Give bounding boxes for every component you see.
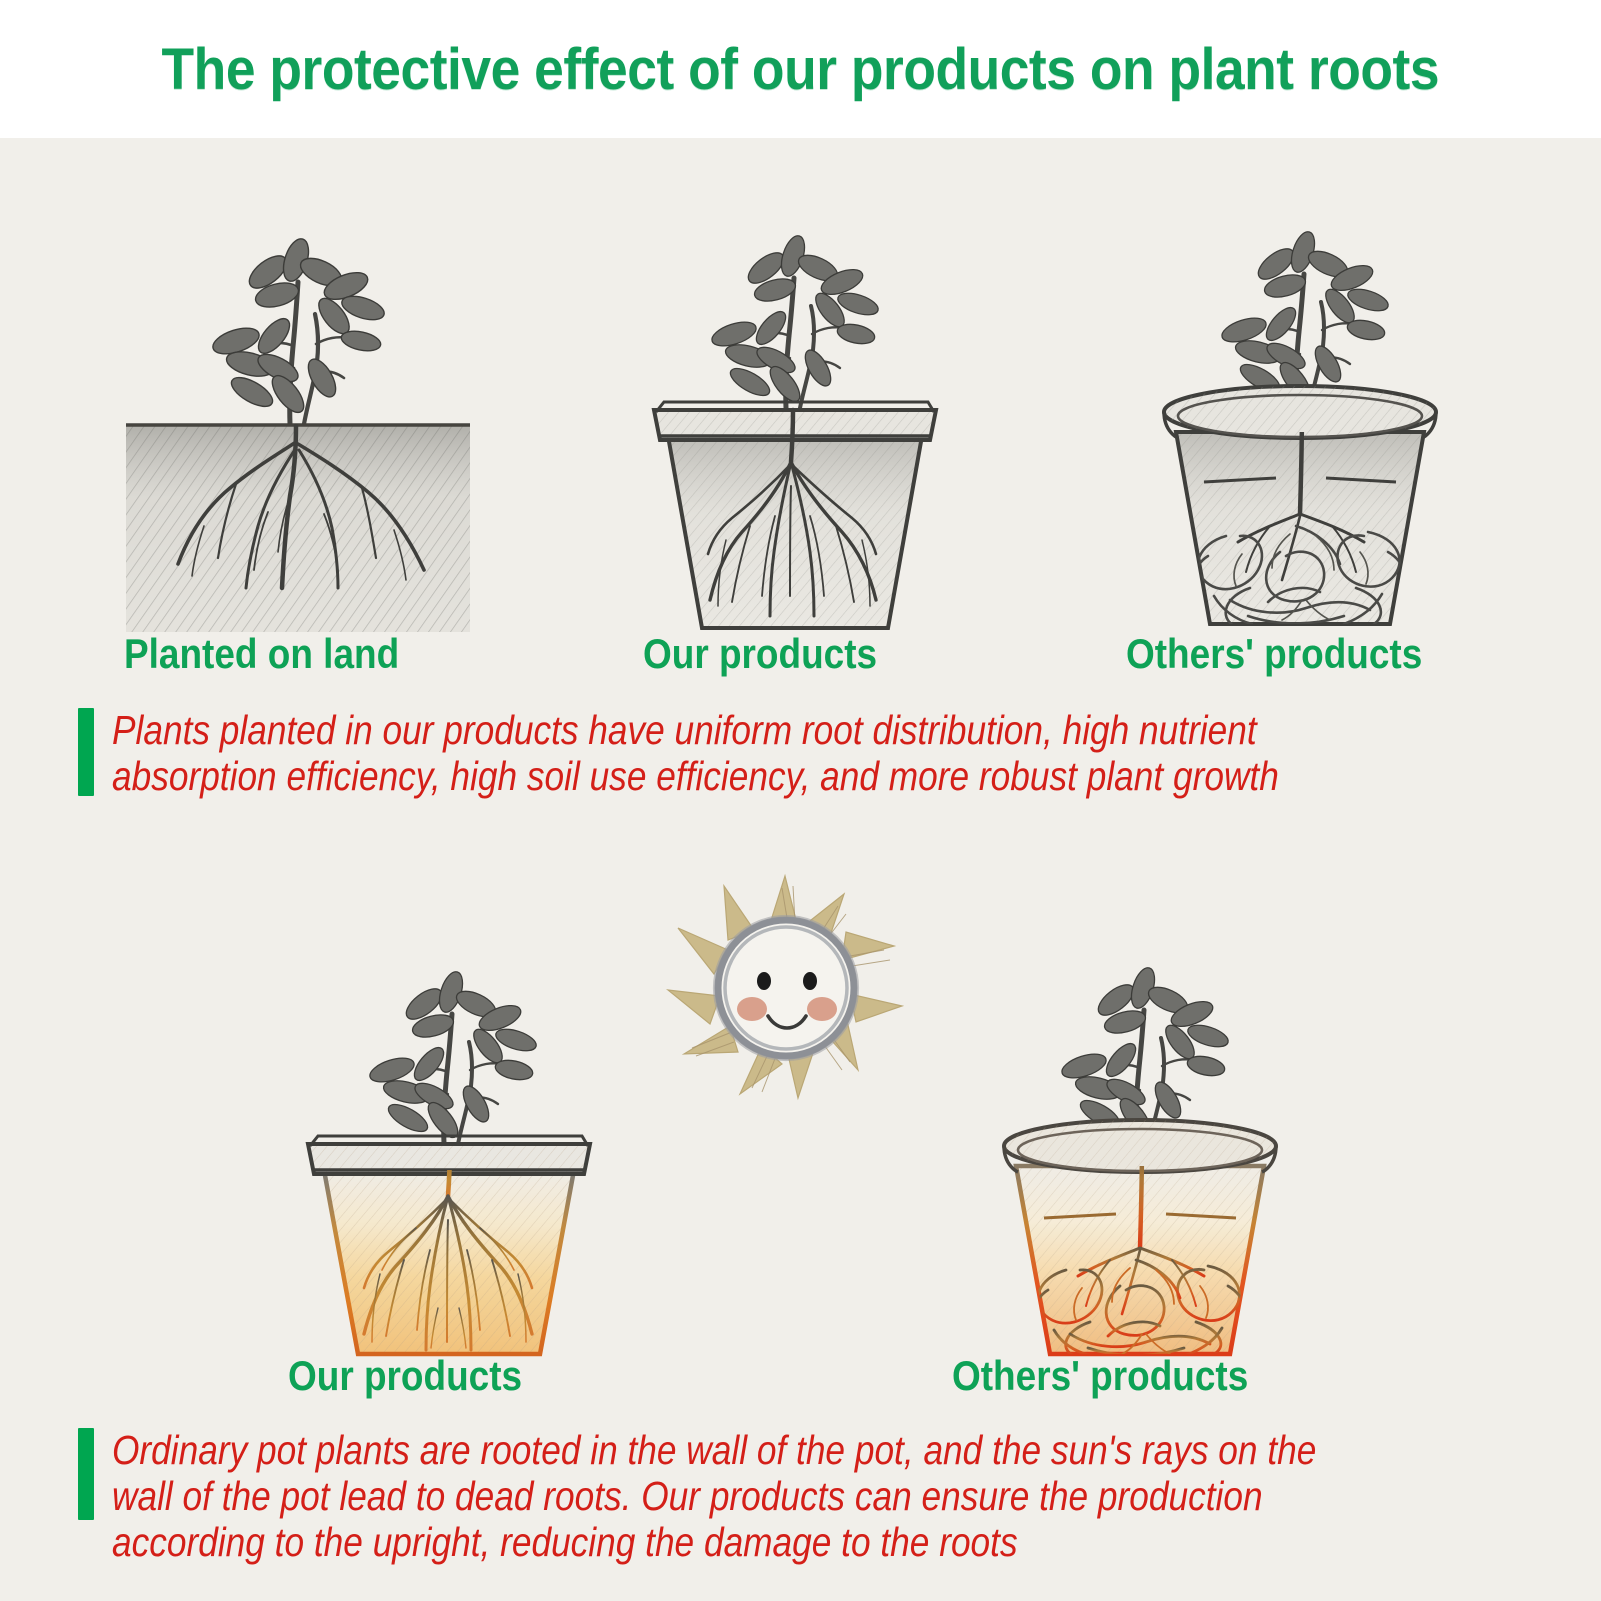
sun-eye-left <box>757 972 771 990</box>
figure-our-products-top <box>630 196 960 636</box>
caption-our-products-bottom: Our products <box>288 1352 522 1400</box>
caption-our-products-top: Our products <box>643 630 877 678</box>
infographic-page: The protective effect of our products on… <box>0 0 1601 1601</box>
soil-block-with-roots-icon <box>118 196 478 636</box>
square-pot-heated-even-roots-icon <box>278 918 618 1358</box>
note-bottom: Ordinary pot plants are rooted in the wa… <box>78 1428 1578 1566</box>
title-band: The protective effect of our products on… <box>0 0 1601 138</box>
caption-others-products-bottom: Others' products <box>952 1352 1248 1400</box>
sun-eye-right <box>803 972 817 990</box>
round-pot-tangled-roots-icon <box>1130 196 1470 636</box>
smiling-sun-icon <box>662 866 912 1106</box>
caption-others-products-top: Others' products <box>1126 630 1422 678</box>
sun-cheek-left <box>737 997 767 1021</box>
figure-planted-on-land <box>118 196 478 636</box>
note-top: Plants planted in our products have unif… <box>78 708 1558 800</box>
figure-others-products-bottom <box>970 918 1310 1358</box>
note-accent-bar-top <box>78 708 94 796</box>
figure-our-products-bottom <box>278 918 618 1358</box>
note-bottom-text: Ordinary pot plants are rooted in the wa… <box>112 1428 1373 1566</box>
note-accent-bar-bottom <box>78 1428 94 1520</box>
sun-cheek-right <box>807 997 837 1021</box>
figure-sun <box>662 866 912 1106</box>
page-title: The protective effect of our products on… <box>162 36 1440 103</box>
caption-planted-on-land: Planted on land <box>124 630 399 678</box>
square-pot-even-roots-icon <box>630 196 960 636</box>
figure-others-products-top <box>1130 196 1470 636</box>
note-top-text: Plants planted in our products have unif… <box>112 708 1356 800</box>
round-pot-heated-tangled-roots-icon <box>970 918 1310 1358</box>
